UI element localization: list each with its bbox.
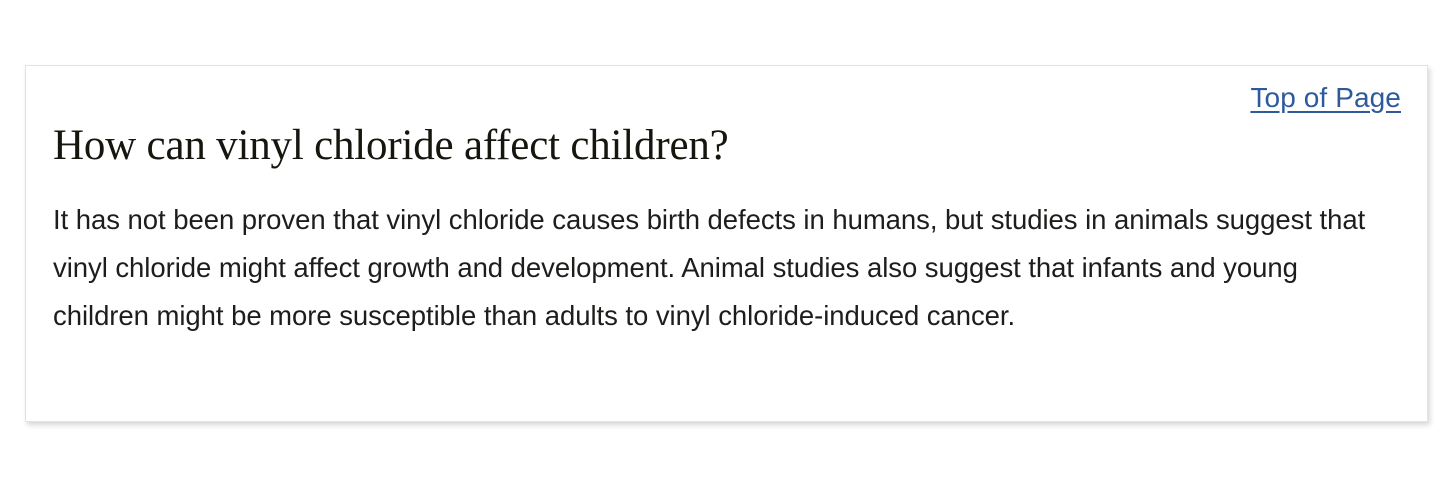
top-of-page-row: Top of Page [52, 76, 1401, 120]
page-title: How can vinyl chloride affect children? [52, 120, 1401, 172]
section-body-text: It has not been proven that vinyl chlori… [52, 196, 1393, 340]
content-card-inner: Top of Page How can vinyl chloride affec… [26, 66, 1427, 421]
content-card: Top of Page How can vinyl chloride affec… [25, 65, 1428, 422]
top-of-page-link[interactable]: Top of Page [1250, 82, 1401, 113]
page-root: Top of Page How can vinyl chloride affec… [0, 0, 1453, 496]
